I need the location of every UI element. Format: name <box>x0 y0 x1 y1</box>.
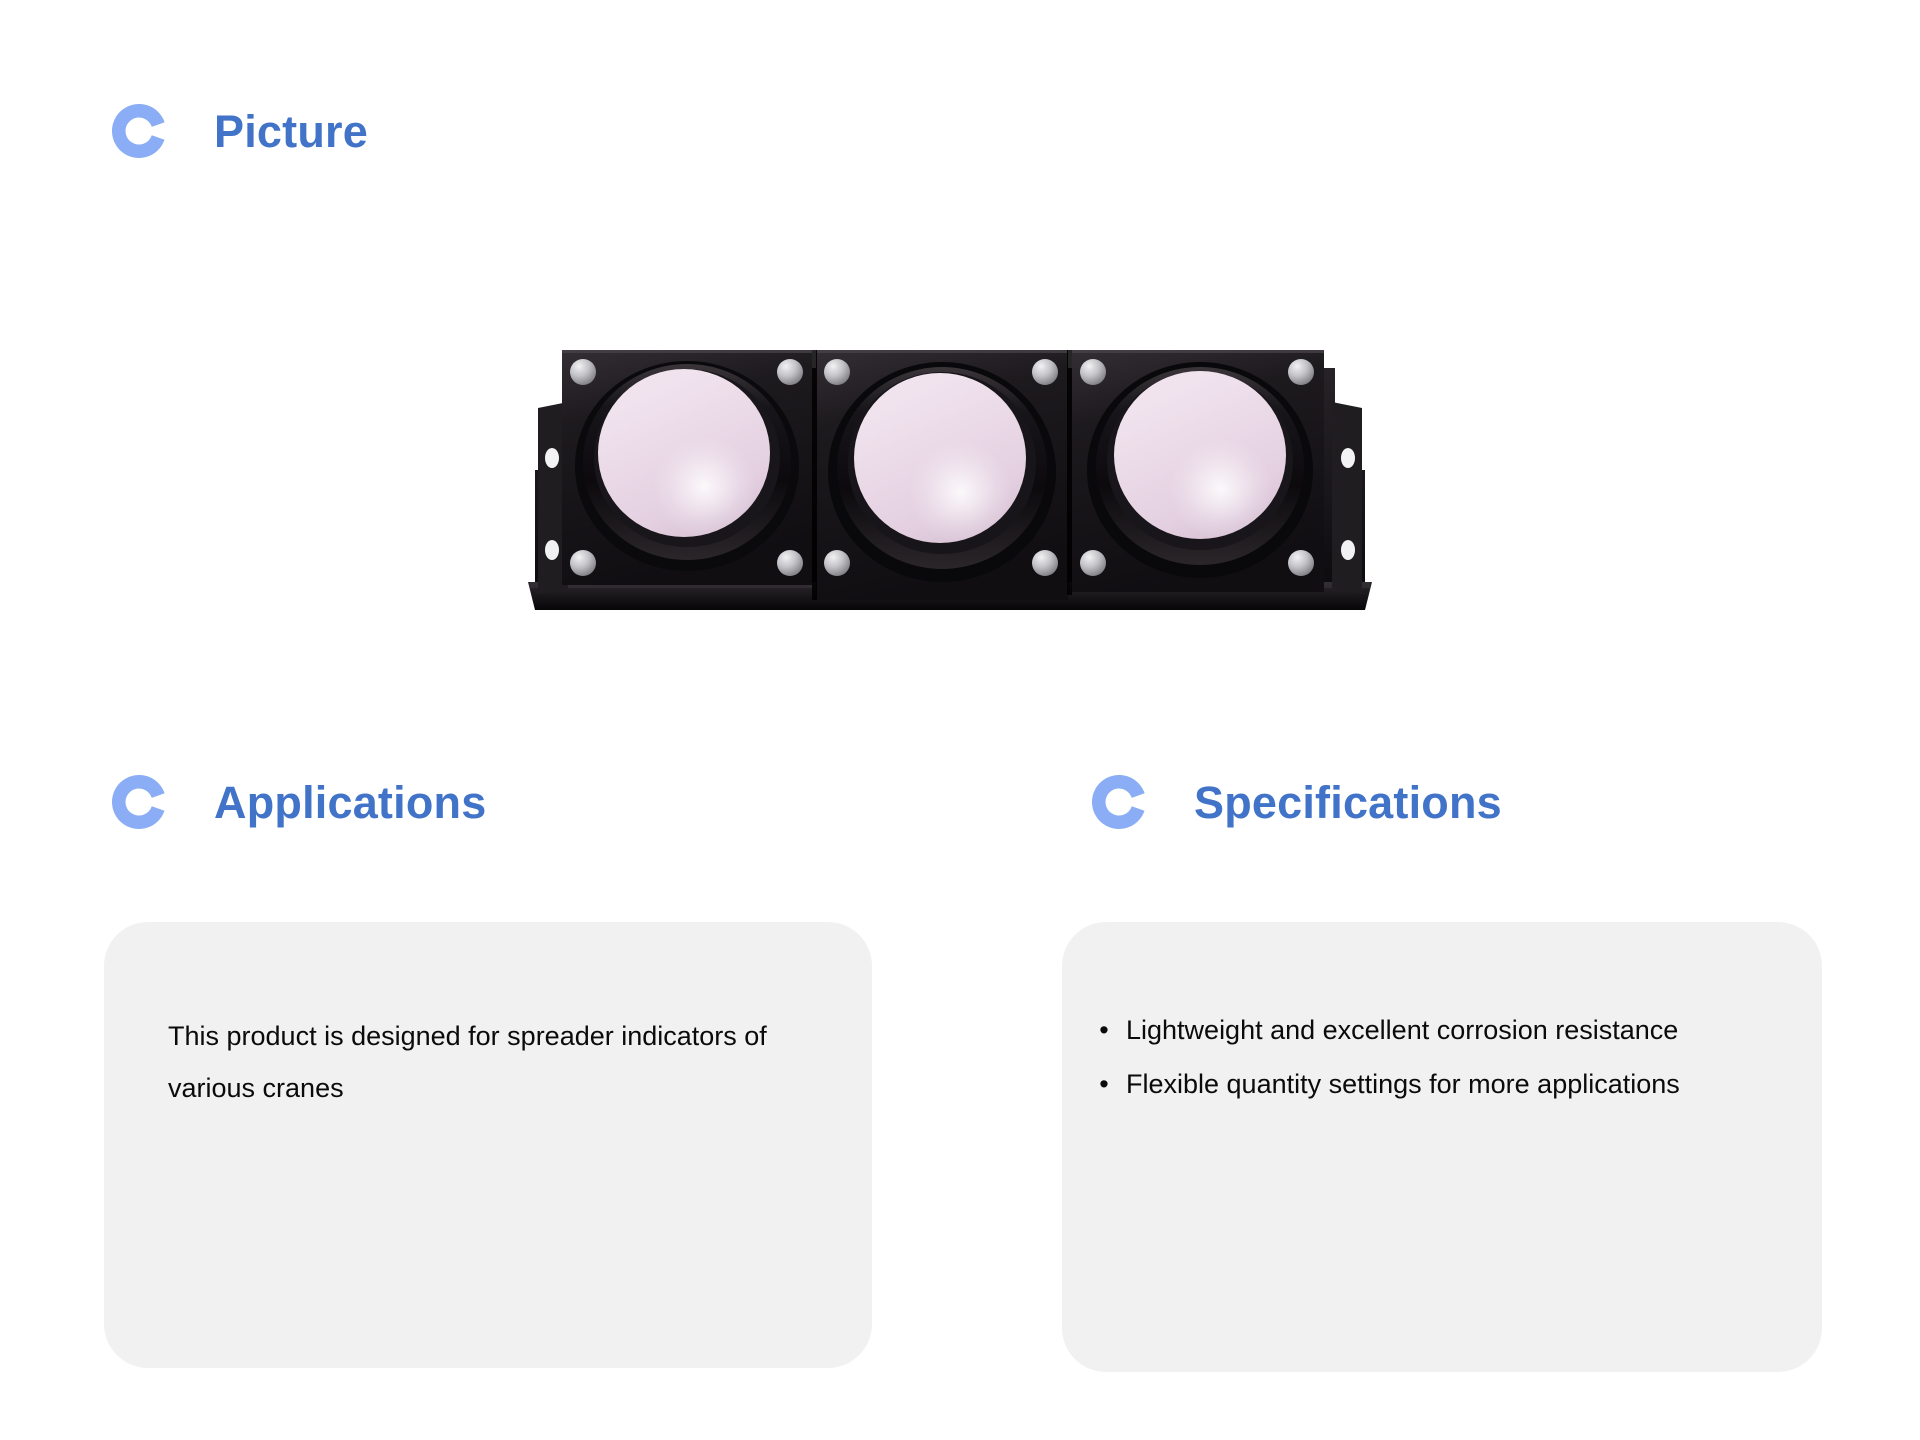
specifications-bullet-list: • Lightweight and excellent corrosion re… <box>1082 1004 1782 1110</box>
product-image-indicator-lamp-array <box>500 320 1400 620</box>
section-heading-applications: Applications <box>108 766 486 838</box>
list-item: • Lightweight and excellent corrosion re… <box>1082 1004 1782 1056</box>
c-brand-logo-icon <box>108 100 170 162</box>
applications-content-card: This product is designed for spreader in… <box>104 922 872 1368</box>
bullet-marker-icon: • <box>1082 1058 1126 1110</box>
section-heading-specifications: Specifications <box>1088 766 1502 838</box>
bullet-marker-icon: • <box>1082 1004 1126 1056</box>
section-heading-picture: Picture <box>108 95 368 167</box>
section-title-picture: Picture <box>214 109 368 154</box>
specifications-content-card: • Lightweight and excellent corrosion re… <box>1062 922 1822 1372</box>
c-brand-logo-icon <box>108 771 170 833</box>
applications-paragraph: This product is designed for spreader in… <box>168 1010 778 1114</box>
section-title-applications: Applications <box>214 780 486 825</box>
list-item: • Flexible quantity settings for more ap… <box>1082 1058 1782 1110</box>
bullet-text: Lightweight and excellent corrosion resi… <box>1126 1004 1782 1056</box>
c-brand-logo-icon <box>1088 771 1150 833</box>
section-title-specifications: Specifications <box>1194 780 1502 825</box>
bullet-text: Flexible quantity settings for more appl… <box>1126 1058 1782 1110</box>
